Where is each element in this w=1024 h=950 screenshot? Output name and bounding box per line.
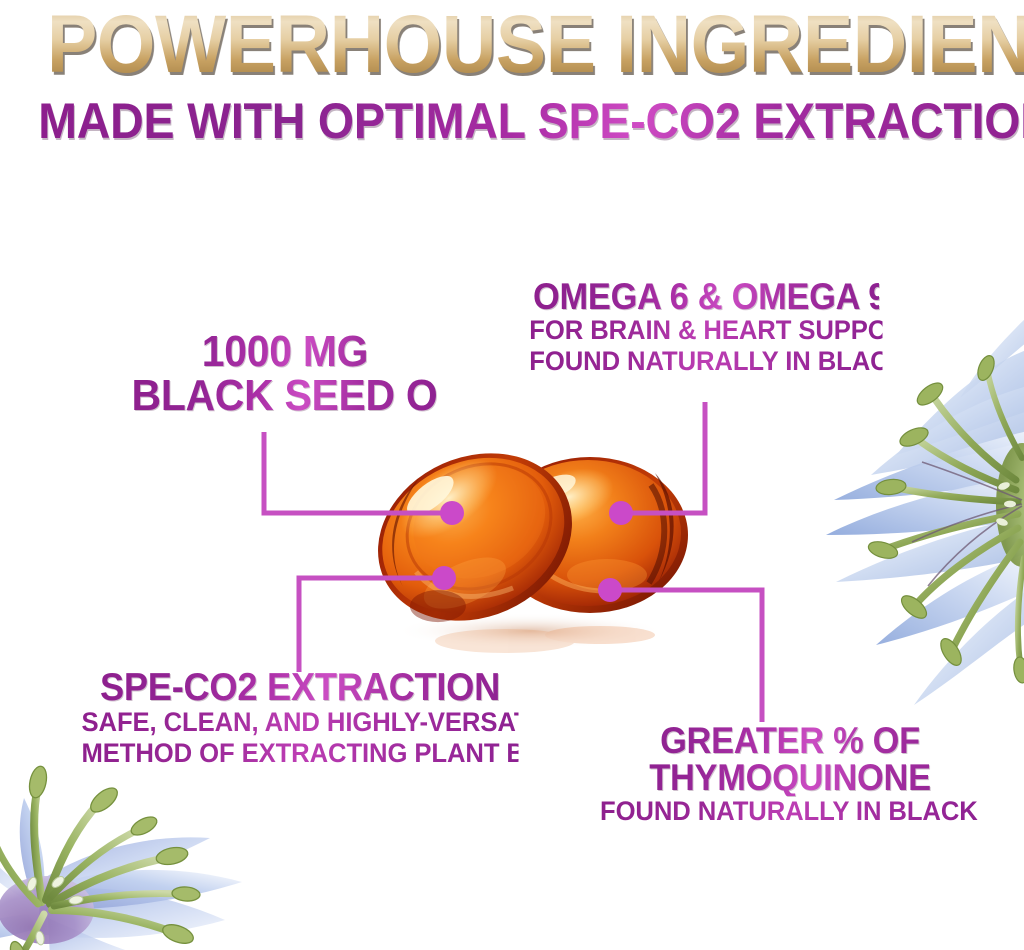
callout-dosage-line1: 1000 MG bbox=[132, 330, 439, 374]
callout-thymoquinone-title-line1: GREATER % OF bbox=[604, 722, 976, 759]
callout-omega-sub1: FOR BRAIN & HEART SUPPORT bbox=[529, 315, 882, 346]
callout-omega-title: OMEGA 6 & OMEGA 9 bbox=[533, 278, 879, 315]
callout-omega-sub2: FOUND NATURALLY IN BLACK SEED bbox=[529, 346, 882, 377]
callout-dosage: 1000 MG BLACK SEED OIL bbox=[120, 330, 450, 418]
softgel-capsules-image bbox=[355, 425, 715, 675]
callout-thymoquinone-title-line2: THYMOQUINONE bbox=[604, 759, 976, 796]
page-title: POWERHOUSE INGREDIENTS bbox=[0, 6, 1024, 85]
callout-extraction-sub1: SAFE, CLEAN, AND HIGHLY-VERSATILE bbox=[82, 707, 519, 738]
callout-thymoquinone-sub1: FOUND NATURALLY IN BLACK SEED bbox=[600, 796, 980, 827]
callout-extraction-sub2: METHOD OF EXTRACTING PLANT BOTANICALS. bbox=[82, 738, 519, 769]
callout-extraction-title: SPE-CO2 EXTRACTION bbox=[86, 668, 514, 707]
callout-dosage-line2: BLACK SEED OIL bbox=[132, 374, 439, 418]
callout-extraction: SPE-CO2 EXTRACTION SAFE, CLEAN, AND HIGH… bbox=[70, 668, 530, 768]
nigella-flower-left-image bbox=[0, 742, 290, 950]
infographic-page: POWERHOUSE INGREDIENTS MADE WITH OPTIMAL… bbox=[0, 0, 1024, 950]
page-subtitle: MADE WITH OPTIMAL SPE-CO2 EXTRACTION bbox=[0, 96, 1024, 146]
page-title-text: POWERHOUSE INGREDIENTS bbox=[47, 6, 1024, 85]
callout-thymoquinone: GREATER % OF THYMOQUINONE FOUND NATURALL… bbox=[590, 722, 990, 827]
callout-omega: OMEGA 6 & OMEGA 9 FOR BRAIN & HEART SUPP… bbox=[520, 278, 892, 376]
page-subtitle-text: MADE WITH OPTIMAL SPE-CO2 EXTRACTION bbox=[38, 96, 1024, 146]
